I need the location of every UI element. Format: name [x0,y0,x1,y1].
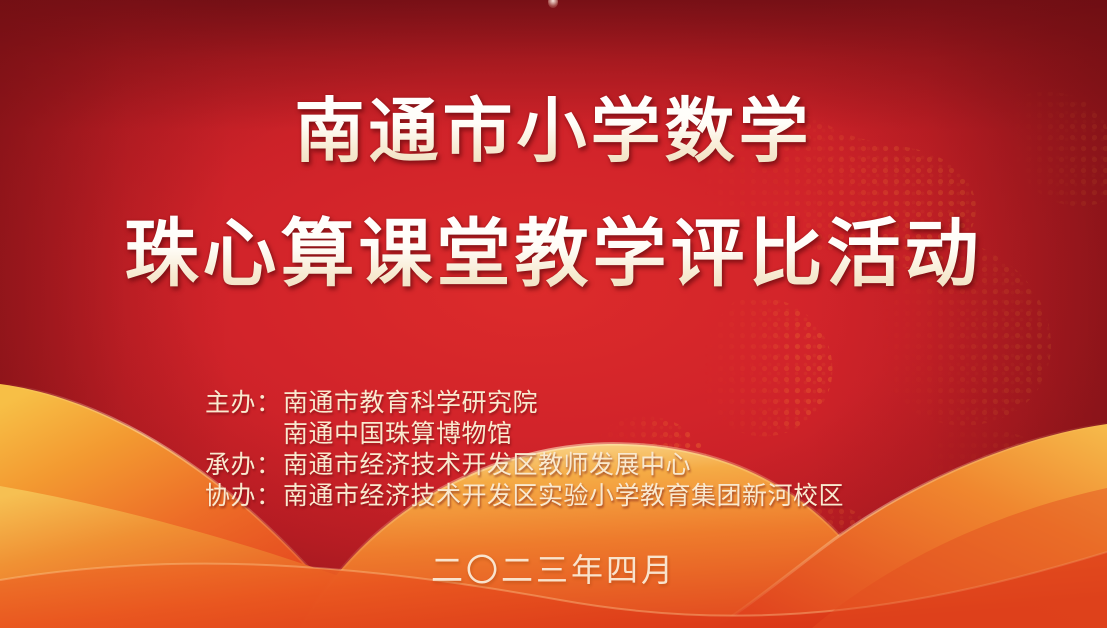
title-line-1: 南通市小学数学 [0,88,1107,173]
organizer-value-undertaker: 南通市经济技术开发区教师发展中心 [283,449,691,480]
organizer-row-cohost: 协办： 南通市经济技术开发区实验小学教育集团新河校区 [205,480,844,511]
organizer-list: 主办： 南通市教育科学研究院 主办： 南通中国珠算博物馆 承办： 南通市经济技术… [205,387,844,511]
title-line-2: 珠心算课堂教学评比活动 [0,209,1107,299]
organizer-value-cohost: 南通市经济技术开发区实验小学教育集团新河校区 [283,480,844,511]
organizer-label-undertaker: 承办： [205,449,283,480]
organizer-label-host: 主办： [205,387,283,418]
organizer-value-host-2: 南通中国珠算博物馆 [283,418,513,449]
organizer-row-host: 主办： 南通市教育科学研究院 [205,387,844,418]
poster-date: 二〇二三年四月 [0,545,1107,591]
organizer-row-host-2: 主办： 南通中国珠算博物馆 [205,418,844,449]
poster-canvas: 南通市小学数学 珠心算课堂教学评比活动 主办： 南通市教育科学研究院 主办： 南… [0,0,1107,628]
organizer-label-cohost: 协办： [205,480,283,511]
poster-title: 南通市小学数学 珠心算课堂教学评比活动 [0,88,1107,300]
organizer-value-host: 南通市教育科学研究院 [283,387,538,418]
organizer-row-undertaker: 承办： 南通市经济技术开发区教师发展中心 [205,449,844,480]
